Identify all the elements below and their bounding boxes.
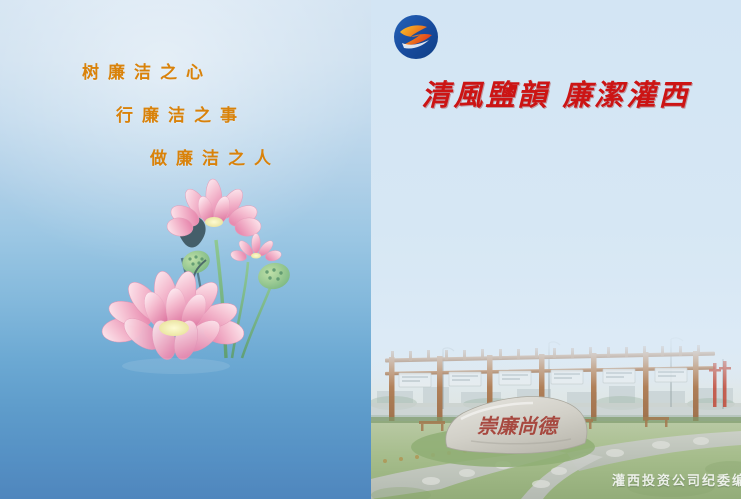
cover-main-title: 清風鹽韻 廉潔灌西: [371, 72, 741, 114]
book-cover-spread: 树廉洁之心 行廉洁之事 做廉洁之人: [0, 0, 741, 499]
slogan-line-1: 树廉洁之心: [82, 58, 212, 83]
slogan-line-2: 行廉洁之事: [116, 101, 246, 126]
publisher-credit: 灌西投资公司纪委编: [612, 470, 741, 489]
stone-inscription-text: 崇廉尚德: [477, 414, 561, 438]
company-logo-icon: [391, 12, 441, 62]
right-cover-panel: 清風鹽韻 廉潔灌西 廉 政 征 文 汇 编: [371, 0, 741, 499]
left-cover-panel: 树廉洁之心 行廉洁之事 做廉洁之人: [0, 0, 371, 499]
lotus-illustration: [96, 180, 296, 380]
slogan-line-3: 做廉洁之人: [150, 144, 280, 169]
